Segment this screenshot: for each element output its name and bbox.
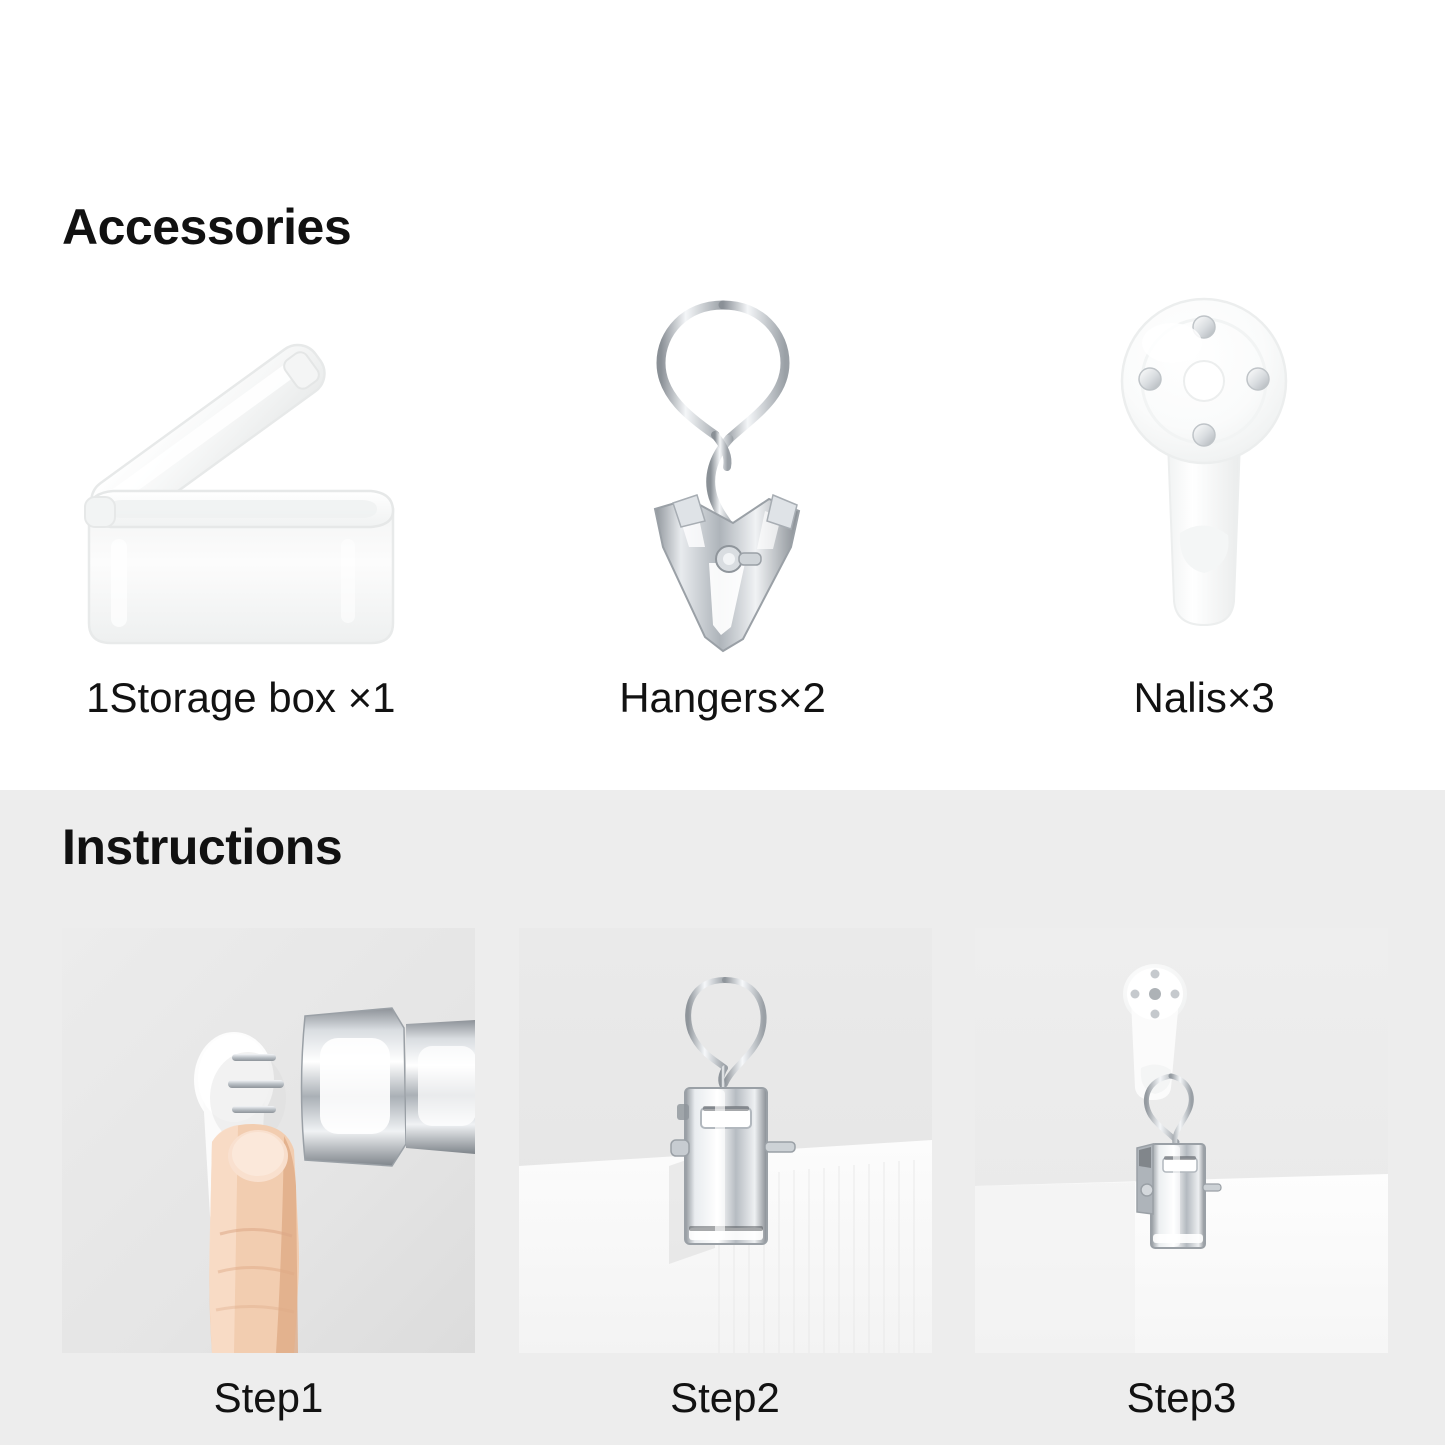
accessory-item-nails: Nalis×3	[963, 268, 1445, 768]
accessory-item-hangers: Hangers×2	[482, 268, 964, 768]
press-hook-and-hammer-pins-icon	[62, 928, 475, 1353]
step-photo-1	[62, 928, 475, 1353]
accessories-row: 1Storage box ×1	[0, 268, 1445, 768]
nail-hook-art	[963, 268, 1445, 673]
step-item-3: Step3	[975, 928, 1388, 1419]
accessory-label: 1Storage box ×1	[86, 677, 395, 719]
accessory-item-storage-box: 1Storage box ×1	[0, 268, 482, 768]
clip-gripping-fabric-icon	[519, 928, 932, 1353]
step-photo-2	[519, 928, 932, 1353]
nail-hook-icon	[1074, 271, 1334, 671]
storage-box-art	[0, 268, 482, 673]
hanger-clip-art	[482, 268, 964, 673]
step-item-1: Step1	[62, 928, 475, 1419]
step-label: Step1	[214, 1377, 324, 1419]
step-photo-3	[975, 928, 1388, 1353]
clip-hanging-from-wall-hook-icon	[975, 928, 1388, 1353]
storage-box-icon	[41, 271, 441, 671]
steps-row: Step1	[62, 928, 1388, 1419]
accessory-label: Hangers×2	[619, 677, 826, 719]
step-label: Step3	[1127, 1377, 1237, 1419]
instructions-heading: Instructions	[62, 818, 342, 876]
step-item-2: Step2	[519, 928, 932, 1419]
infographic-page: Use Steps Accessories	[0, 0, 1445, 1445]
accessories-section: Accessories	[0, 0, 1445, 790]
accessories-heading: Accessories	[62, 198, 351, 256]
instructions-section: Instructions	[0, 790, 1445, 1445]
accessory-label: Nalis×3	[1134, 677, 1275, 719]
hanger-clip-icon	[593, 271, 853, 671]
step-label: Step2	[670, 1377, 780, 1419]
